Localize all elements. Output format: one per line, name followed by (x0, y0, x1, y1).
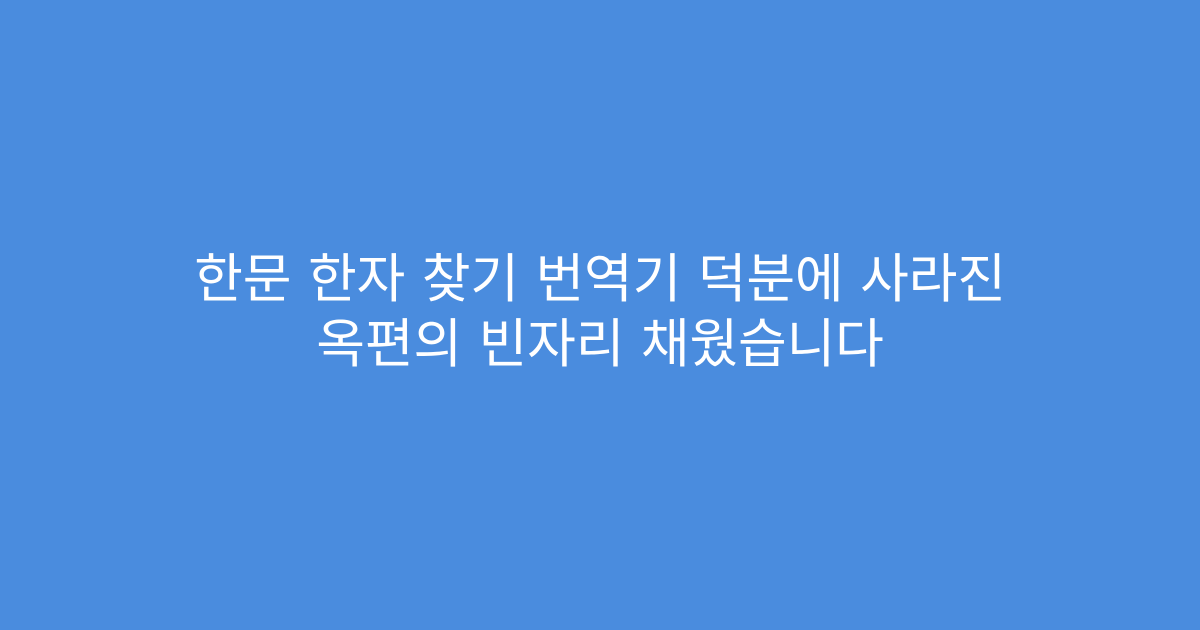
headline-block: 한문 한자 찾기 번역기 덕분에 사라진 옥편의 빈자리 채웠습니다 (120, 247, 1080, 377)
og-banner-card: 한문 한자 찾기 번역기 덕분에 사라진 옥편의 빈자리 채웠습니다 (0, 0, 1200, 630)
page-title: 한문 한자 찾기 번역기 덕분에 사라진 옥편의 빈자리 채웠습니다 (120, 247, 1080, 377)
